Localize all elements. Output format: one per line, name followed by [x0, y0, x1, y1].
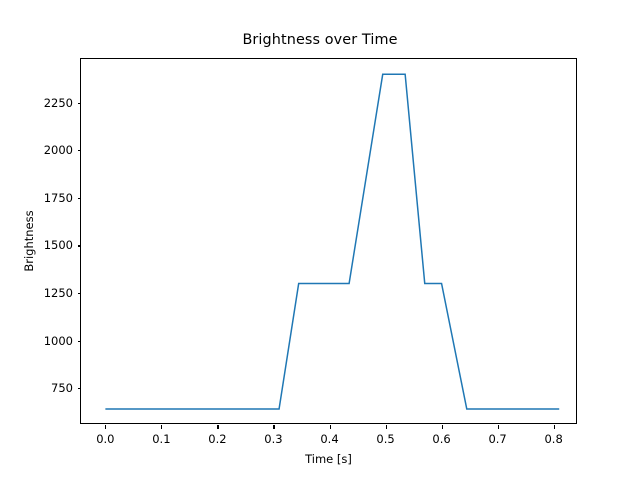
y-tick-mark: [78, 103, 82, 104]
y-tick-label: 750: [51, 381, 73, 395]
y-tick-label: 1000: [44, 334, 73, 348]
brightness-line: [105, 74, 559, 409]
y-tick-label: 2250: [44, 96, 73, 110]
chart-title: Brightness over Time: [0, 32, 640, 48]
x-tick-mark: [442, 425, 443, 429]
x-tick-label: 0.5: [376, 432, 394, 446]
x-tick-mark: [330, 425, 331, 429]
y-tick-label: 2000: [44, 143, 73, 157]
x-axis-label: Time [s]: [80, 452, 577, 466]
y-tick-label: 1250: [44, 286, 73, 300]
plot-area: [81, 59, 576, 423]
y-tick-mark: [78, 388, 82, 389]
y-tick-mark: [78, 293, 82, 294]
x-tick-mark: [498, 425, 499, 429]
y-tick-mark: [78, 245, 82, 246]
y-tick-mark: [78, 150, 82, 151]
x-tick-label: 0.1: [152, 432, 170, 446]
x-tick-label: 0.7: [488, 432, 506, 446]
x-tick-label: 0.6: [432, 432, 450, 446]
x-tick-mark: [161, 425, 162, 429]
x-tick-label: 0.4: [320, 432, 338, 446]
x-tick-label: 0.8: [544, 432, 562, 446]
plot-axes: 0.00.10.20.30.40.50.60.70.87501000125015…: [80, 58, 577, 424]
x-tick-mark: [105, 425, 106, 429]
x-tick-mark: [386, 425, 387, 429]
y-tick-label: 1750: [44, 191, 73, 205]
matplotlib-figure: Brightness over Time 0.00.10.20.30.40.50…: [0, 0, 640, 480]
x-tick-label: 0.2: [208, 432, 226, 446]
x-tick-label: 0.3: [264, 432, 282, 446]
x-tick-mark: [554, 425, 555, 429]
y-tick-label: 1500: [44, 238, 73, 252]
x-tick-mark: [217, 425, 218, 429]
x-tick-label: 0.0: [96, 432, 114, 446]
y-axis-label: Brightness: [22, 58, 36, 424]
x-tick-mark: [273, 425, 274, 429]
y-tick-mark: [78, 198, 82, 199]
y-tick-mark: [78, 341, 82, 342]
